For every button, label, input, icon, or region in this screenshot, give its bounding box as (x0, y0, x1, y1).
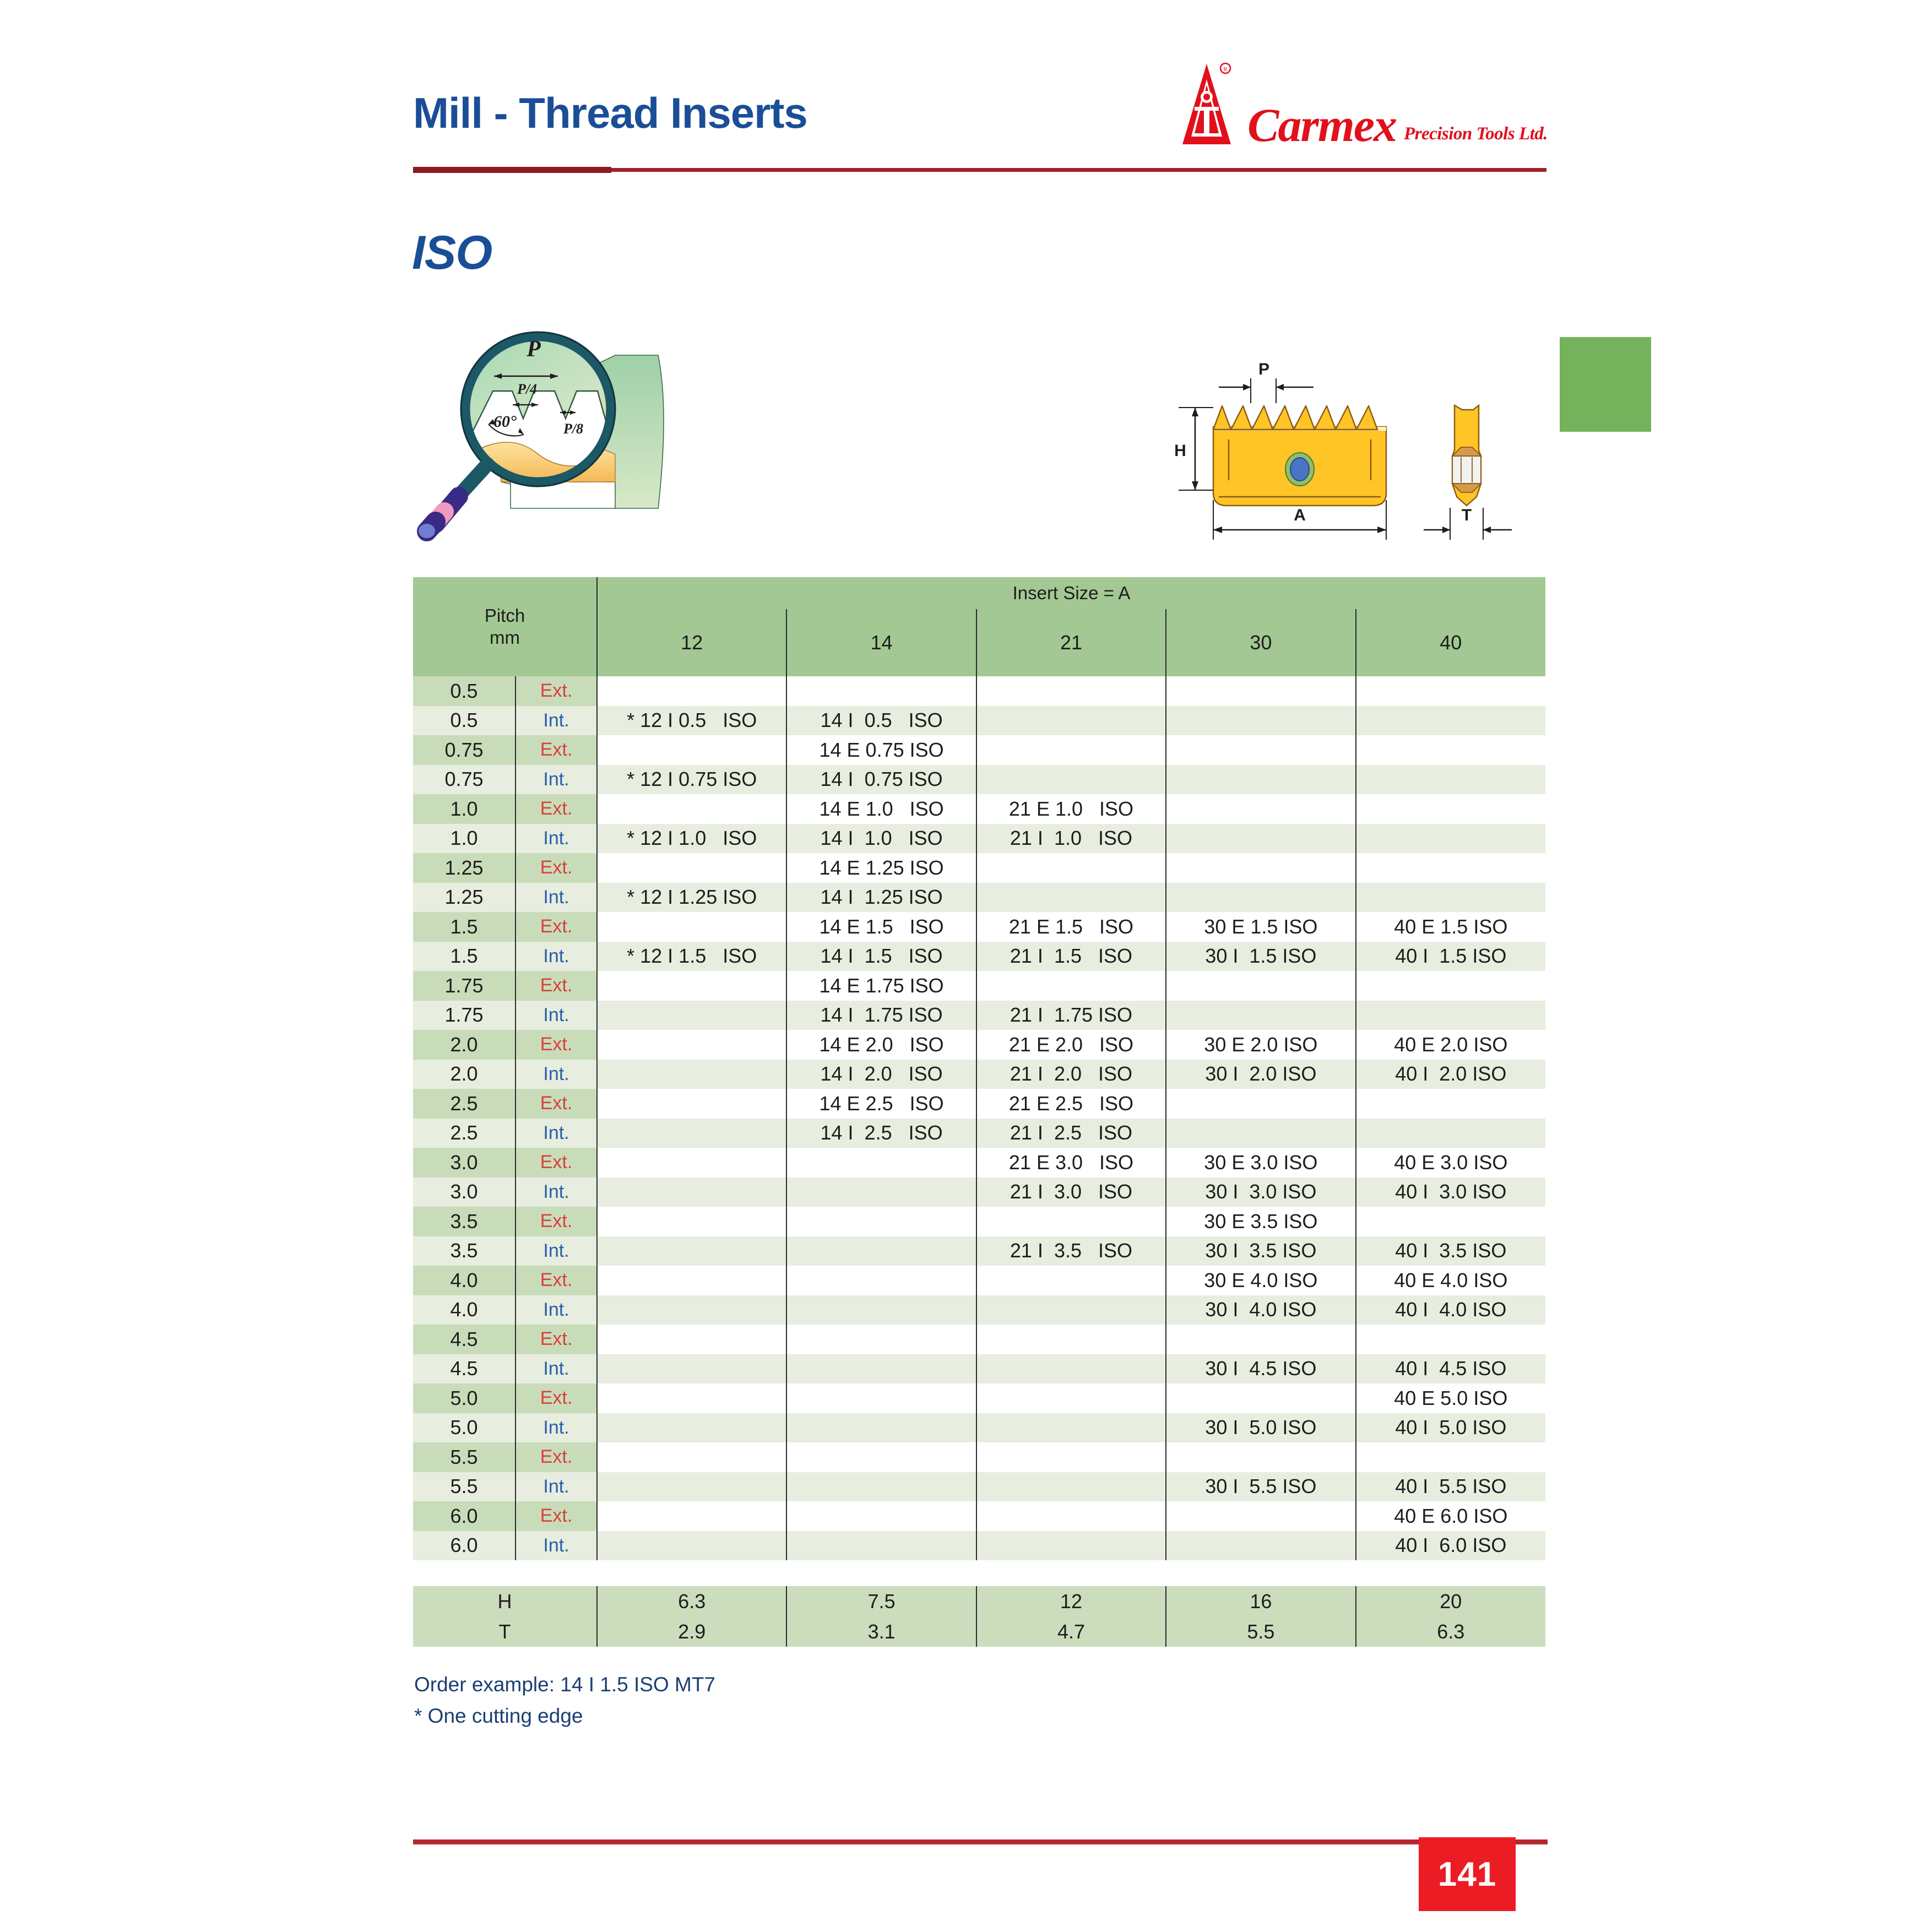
cell-pitch: 1.75 (413, 971, 515, 1001)
table-row: 0.5Int.* 12 I 0.5 ISO14 I 0.5 ISO (413, 706, 1545, 736)
cell-insert-code (976, 1413, 1166, 1443)
cell-insert-code: * 12 I 1.0 ISO (597, 824, 786, 854)
cell-insert-code: 30 E 3.0 ISO (1166, 1148, 1355, 1177)
cell-type-int: Int. (515, 765, 597, 795)
label-h: H (1174, 442, 1186, 460)
cell-insert-code: * 12 I 1.25 ISO (597, 883, 786, 913)
cell-insert-code (976, 735, 1166, 765)
cell-insert-code: 21 I 1.0 ISO (976, 824, 1166, 854)
label-angle: 60° (493, 413, 517, 431)
cell-pitch: 1.0 (413, 794, 515, 824)
cell-insert-code (786, 1383, 976, 1413)
cell-insert-code (1356, 1442, 1545, 1472)
cell-insert-code: 40 E 5.0 ISO (1356, 1383, 1545, 1413)
cell-pitch: 3.0 (413, 1148, 515, 1177)
cell-insert-code (786, 1531, 976, 1561)
cell-type-ext: Ext. (515, 1148, 597, 1177)
footnote-one-cutting-edge: * One cutting edge (414, 1700, 715, 1732)
cell-type-int: Int. (515, 1413, 597, 1443)
cell-insert-code (786, 1501, 976, 1531)
cell-insert-code: 30 I 4.0 ISO (1166, 1295, 1355, 1325)
cell-type-int: Int. (515, 1060, 597, 1089)
size-col-30: 30 (1166, 609, 1355, 676)
dimension-value: 4.7 (976, 1616, 1166, 1647)
cell-insert-code (1356, 676, 1545, 706)
cell-pitch: 1.25 (413, 883, 515, 913)
cell-type-ext: Ext. (515, 912, 597, 942)
cell-insert-code (597, 676, 786, 706)
cell-insert-code (1166, 765, 1355, 795)
dimension-label: H (413, 1586, 597, 1616)
cell-pitch: 6.0 (413, 1531, 515, 1561)
cell-pitch: 0.5 (413, 706, 515, 736)
cell-pitch: 2.5 (413, 1089, 515, 1119)
cell-insert-code: 40 I 6.0 ISO (1356, 1531, 1545, 1561)
cell-type-int: Int. (515, 1354, 597, 1384)
cell-insert-code (976, 1295, 1166, 1325)
cell-insert-code (1356, 883, 1545, 913)
cell-insert-code: 40 E 1.5 ISO (1356, 912, 1545, 942)
cell-pitch: 0.75 (413, 735, 515, 765)
table-row: 5.5Int.30 I 5.5 ISO40 I 5.5 ISO (413, 1472, 1545, 1502)
cell-insert-code: 14 I 0.75 ISO (786, 765, 976, 795)
cell-insert-code (1356, 824, 1545, 854)
cell-insert-code (976, 1442, 1166, 1472)
cell-type-int: Int. (515, 1001, 597, 1030)
table-row: 3.5Ext.30 E 3.5 ISO (413, 1207, 1545, 1236)
cell-insert-code (597, 1148, 786, 1177)
cell-insert-code (976, 853, 1166, 883)
cell-insert-code: 14 I 1.75 ISO (786, 1001, 976, 1030)
cell-insert-code (1166, 1089, 1355, 1119)
cell-insert-code: 21 I 2.5 ISO (976, 1119, 1166, 1148)
cell-insert-code (1356, 794, 1545, 824)
cell-type-ext: Ext. (515, 1383, 597, 1413)
cell-insert-code (786, 1207, 976, 1236)
cell-insert-code: 21 I 2.0 ISO (976, 1060, 1166, 1089)
dimension-value: 2.9 (597, 1616, 786, 1647)
cell-insert-code (597, 1501, 786, 1531)
cell-pitch: 5.5 (413, 1472, 515, 1502)
page-number: 141 (1419, 1837, 1516, 1911)
cell-insert-code (1166, 824, 1355, 854)
cell-insert-code: * 12 I 0.5 ISO (597, 706, 786, 736)
cell-insert-code (1356, 706, 1545, 736)
dimension-value: 6.3 (597, 1586, 786, 1616)
cell-insert-code: 40 I 3.0 ISO (1356, 1177, 1545, 1207)
cell-insert-code (1166, 706, 1355, 736)
company-logo: R Carmex Precision Tools Ltd. (1174, 61, 1548, 149)
table-row: 1.25Int.* 12 I 1.25 ISO14 I 1.25 ISO (413, 883, 1545, 913)
label-p4: P/4 (517, 381, 537, 397)
table-row: 3.0Int.21 I 3.0 ISO30 I 3.0 ISO40 I 3.0 … (413, 1177, 1545, 1207)
brand-name: Carmex (1247, 101, 1396, 149)
cell-pitch: 1.75 (413, 1001, 515, 1030)
cell-type-ext: Ext. (515, 676, 597, 706)
cell-insert-code (786, 1354, 976, 1384)
table-row: 2.0Ext.14 E 2.0 ISO21 E 2.0 ISO30 E 2.0 … (413, 1030, 1545, 1060)
cell-insert-code (976, 1383, 1166, 1413)
cell-pitch: 4.5 (413, 1325, 515, 1354)
cell-insert-code: 30 I 1.5 ISO (1166, 942, 1355, 972)
cell-insert-code (597, 1177, 786, 1207)
cell-insert-code (597, 1236, 786, 1266)
cell-insert-code: 40 I 3.5 ISO (1356, 1236, 1545, 1266)
dimension-value: 20 (1356, 1586, 1545, 1616)
label-p8: P/8 (563, 421, 583, 437)
cell-insert-code (597, 1413, 786, 1443)
cell-insert-code: 30 I 4.5 ISO (1166, 1354, 1355, 1384)
cell-insert-code: 40 E 6.0 ISO (1356, 1501, 1545, 1531)
section-title: ISO (412, 226, 492, 280)
dimensions-table: H6.37.5121620T2.93.14.75.56.3 (413, 1586, 1545, 1647)
cell-pitch: 0.75 (413, 765, 515, 795)
cell-insert-code (786, 676, 976, 706)
page-title: Mill - Thread Inserts (413, 88, 807, 138)
cell-insert-code (1356, 1001, 1545, 1030)
cell-insert-code: 14 E 1.75 ISO (786, 971, 976, 1001)
dimension-value: 16 (1166, 1586, 1355, 1616)
cell-insert-code (597, 1472, 786, 1502)
dimension-value: 6.3 (1356, 1616, 1545, 1647)
cell-type-int: Int. (515, 824, 597, 854)
cell-insert-code (976, 1325, 1166, 1354)
page-header: Mill - Thread Inserts R Carmex Precision (413, 83, 1548, 176)
cell-insert-code (976, 1207, 1166, 1236)
cell-insert-code: 40 E 4.0 ISO (1356, 1266, 1545, 1295)
cell-insert-code: 14 E 1.25 ISO (786, 853, 976, 883)
cell-pitch: 3.5 (413, 1207, 515, 1236)
cell-insert-code (1356, 1325, 1545, 1354)
cell-insert-code (597, 1119, 786, 1148)
table-row: 6.0Int.40 I 6.0 ISO (413, 1531, 1545, 1561)
cell-pitch: 1.5 (413, 942, 515, 972)
table-row: 3.0Ext.21 E 3.0 ISO30 E 3.0 ISO40 E 3.0 … (413, 1148, 1545, 1177)
section-color-tab (1560, 337, 1651, 432)
cell-insert-code (976, 1531, 1166, 1561)
cell-insert-code: 30 I 3.0 ISO (1166, 1177, 1355, 1207)
cell-insert-code: 21 E 1.0 ISO (976, 794, 1166, 824)
cell-insert-code (597, 1383, 786, 1413)
dimension-value: 12 (976, 1586, 1166, 1616)
cell-insert-code: 30 I 5.5 ISO (1166, 1472, 1355, 1502)
pitch-header-line1: Pitch (413, 605, 596, 627)
cell-type-int: Int. (515, 1236, 597, 1266)
cell-insert-code (786, 1325, 976, 1354)
cell-pitch: 6.0 (413, 1501, 515, 1531)
cell-type-int: Int. (515, 706, 597, 736)
label-p: P (1258, 360, 1269, 378)
order-example: Order example: 14 I 1.5 ISO MT7 (414, 1669, 715, 1700)
brand-subtitle: Precision Tools Ltd. (1404, 125, 1548, 149)
cell-insert-code (786, 1442, 976, 1472)
cell-insert-code (1166, 1001, 1355, 1030)
cell-insert-code (786, 1472, 976, 1502)
cell-insert-code (1356, 1119, 1545, 1148)
cell-insert-code (976, 971, 1166, 1001)
cell-insert-code: 21 I 1.5 ISO (976, 942, 1166, 972)
cell-insert-code: 30 E 2.0 ISO (1166, 1030, 1355, 1060)
cell-insert-code (976, 1266, 1166, 1295)
cell-pitch: 2.0 (413, 1030, 515, 1060)
cell-insert-code (786, 1295, 976, 1325)
cell-type-int: Int. (515, 1472, 597, 1502)
insert-size-table: Pitch mm Insert Size = A 12 14 21 30 40 … (413, 577, 1545, 1560)
cell-insert-code: 21 I 3.0 ISO (976, 1177, 1166, 1207)
cell-pitch: 4.0 (413, 1266, 515, 1295)
cell-insert-code (597, 735, 786, 765)
footer-divider (413, 1839, 1548, 1844)
cell-insert-code: 40 E 3.0 ISO (1356, 1148, 1545, 1177)
cell-insert-code: 14 I 1.5 ISO (786, 942, 976, 972)
cell-insert-code: 14 E 2.0 ISO (786, 1030, 976, 1060)
cell-insert-code (786, 1148, 976, 1177)
cell-pitch: 0.5 (413, 676, 515, 706)
cell-type-ext: Ext. (515, 1442, 597, 1472)
table-row: 2.5Int.14 I 2.5 ISO21 I 2.5 ISO (413, 1119, 1545, 1148)
pitch-header: Pitch mm (413, 577, 597, 676)
cell-pitch: 1.5 (413, 912, 515, 942)
table-row: 6.0Ext.40 E 6.0 ISO (413, 1501, 1545, 1531)
insert-size-header: Insert Size = A (597, 577, 1545, 609)
cell-insert-code: 21 I 1.75 ISO (976, 1001, 1166, 1030)
cell-insert-code: 14 E 2.5 ISO (786, 1089, 976, 1119)
cell-insert-code (1166, 1531, 1355, 1561)
cell-insert-code: 21 I 3.5 ISO (976, 1236, 1166, 1266)
table-row: 1.75Ext.14 E 1.75 ISO (413, 971, 1545, 1001)
cell-insert-code (1356, 971, 1545, 1001)
cell-insert-code: 14 I 1.25 ISO (786, 883, 976, 913)
cell-type-ext: Ext. (515, 853, 597, 883)
table-row: 3.5Int.21 I 3.5 ISO30 I 3.5 ISO40 I 3.5 … (413, 1236, 1545, 1266)
table-row: 1.5Int.* 12 I 1.5 ISO14 I 1.5 ISO21 I 1.… (413, 942, 1545, 972)
table-row: 4.0Ext.30 E 4.0 ISO40 E 4.0 ISO (413, 1266, 1545, 1295)
cell-insert-code (1166, 883, 1355, 913)
cell-insert-code: 30 I 3.5 ISO (1166, 1236, 1355, 1266)
cell-type-ext: Ext. (515, 1089, 597, 1119)
cell-type-ext: Ext. (515, 794, 597, 824)
dimension-value: 5.5 (1166, 1616, 1355, 1647)
dimension-value: 7.5 (786, 1586, 976, 1616)
cell-insert-code (1166, 676, 1355, 706)
header-divider-accent (413, 167, 611, 173)
catalog-page: Mill - Thread Inserts R Carmex Precision (0, 0, 1932, 1932)
cell-insert-code: 40 I 5.0 ISO (1356, 1413, 1545, 1443)
cell-insert-code: 30 I 2.0 ISO (1166, 1060, 1355, 1089)
cell-insert-code (1356, 765, 1545, 795)
cell-insert-code: 21 E 3.0 ISO (976, 1148, 1166, 1177)
cell-pitch: 1.0 (413, 824, 515, 854)
cell-insert-code (597, 1442, 786, 1472)
thread-profile-illustration: P P/4 P/8 60° (410, 317, 697, 559)
cell-insert-code (597, 1266, 786, 1295)
cell-insert-code (1166, 1325, 1355, 1354)
dimensions-row: T2.93.14.75.56.3 (413, 1616, 1545, 1647)
table-row: 4.5Ext. (413, 1325, 1545, 1354)
carmex-triangle-icon: R (1174, 61, 1240, 149)
cell-pitch: 3.5 (413, 1236, 515, 1266)
cell-type-int: Int. (515, 942, 597, 972)
size-col-12: 12 (597, 609, 786, 676)
cell-insert-code (786, 1413, 976, 1443)
cell-insert-code (597, 1207, 786, 1236)
notes-block: Order example: 14 I 1.5 ISO MT7 * One cu… (414, 1669, 715, 1732)
cell-type-int: Int. (515, 1295, 597, 1325)
label-a: A (1294, 506, 1306, 524)
cell-insert-code (976, 1354, 1166, 1384)
cell-insert-code: * 12 I 0.75 ISO (597, 765, 786, 795)
cell-insert-code: 30 E 4.0 ISO (1166, 1266, 1355, 1295)
table-row: 5.0Int.30 I 5.0 ISO40 I 5.0 ISO (413, 1413, 1545, 1443)
cell-insert-code (786, 1236, 976, 1266)
cell-insert-code: 14 I 2.5 ISO (786, 1119, 976, 1148)
dimension-value: 3.1 (786, 1616, 976, 1647)
cell-type-ext: Ext. (515, 1266, 597, 1295)
cell-insert-code (597, 1325, 786, 1354)
table-row: 2.0Int.14 I 2.0 ISO21 I 2.0 ISO30 I 2.0 … (413, 1060, 1545, 1089)
table-row: 0.5Ext. (413, 676, 1545, 706)
cell-pitch: 5.5 (413, 1442, 515, 1472)
cell-pitch: 1.25 (413, 853, 515, 883)
cell-type-int: Int. (515, 883, 597, 913)
cell-insert-code (1166, 1383, 1355, 1413)
cell-insert-code (1166, 853, 1355, 883)
cell-insert-code (786, 1266, 976, 1295)
cell-insert-code: 30 I 5.0 ISO (1166, 1413, 1355, 1443)
cell-insert-code: 40 I 1.5 ISO (1356, 942, 1545, 972)
table-row: 1.0Ext.14 E 1.0 ISO21 E 1.0 ISO (413, 794, 1545, 824)
size-col-40: 40 (1356, 609, 1545, 676)
cell-insert-code (597, 1089, 786, 1119)
cell-insert-code (1166, 971, 1355, 1001)
cell-pitch: 2.0 (413, 1060, 515, 1089)
cell-insert-code (1356, 1089, 1545, 1119)
cell-insert-code (597, 912, 786, 942)
cell-insert-code (786, 1177, 976, 1207)
cell-type-ext: Ext. (515, 971, 597, 1001)
cell-insert-code (976, 676, 1166, 706)
cell-insert-code (1356, 735, 1545, 765)
cell-insert-code (976, 883, 1166, 913)
table-head: Pitch mm Insert Size = A 12 14 21 30 40 (413, 577, 1545, 676)
cell-insert-code (597, 971, 786, 1001)
dimensions-row: H6.37.5121620 (413, 1586, 1545, 1616)
cell-insert-code (597, 1295, 786, 1325)
cell-insert-code (1166, 1119, 1355, 1148)
cell-insert-code: 40 I 5.5 ISO (1356, 1472, 1545, 1502)
table-row: 4.5Int.30 I 4.5 ISO40 I 4.5 ISO (413, 1354, 1545, 1384)
cell-insert-code: 14 E 1.0 ISO (786, 794, 976, 824)
cell-insert-code (597, 1060, 786, 1089)
cell-type-ext: Ext. (515, 1207, 597, 1236)
cell-insert-code: 40 I 4.5 ISO (1356, 1354, 1545, 1384)
cell-type-int: Int. (515, 1177, 597, 1207)
table-row: 4.0Int.30 I 4.0 ISO40 I 4.0 ISO (413, 1295, 1545, 1325)
cell-insert-code: 40 I 4.0 ISO (1356, 1295, 1545, 1325)
cell-pitch: 5.0 (413, 1413, 515, 1443)
table-row: 1.25Ext.14 E 1.25 ISO (413, 853, 1545, 883)
cell-insert-code (976, 1472, 1166, 1502)
table-row: 2.5Ext.14 E 2.5 ISO21 E 2.5 ISO (413, 1089, 1545, 1119)
table-row: 0.75Int.* 12 I 0.75 ISO14 I 0.75 ISO (413, 765, 1545, 795)
table-row: 1.5Ext.14 E 1.5 ISO21 E 1.5 ISO30 E 1.5 … (413, 912, 1545, 942)
size-col-14: 14 (786, 609, 976, 676)
cell-insert-code: 14 I 0.5 ISO (786, 706, 976, 736)
cell-insert-code (597, 853, 786, 883)
cell-insert-code: 14 I 1.0 ISO (786, 824, 976, 854)
cell-insert-code: 21 E 1.5 ISO (976, 912, 1166, 942)
cell-insert-code: 14 E 1.5 ISO (786, 912, 976, 942)
dimensions-table-body: H6.37.5121620T2.93.14.75.56.3 (413, 1586, 1545, 1647)
label-t: T (1462, 506, 1472, 524)
cell-insert-code: 40 E 2.0 ISO (1356, 1030, 1545, 1060)
cell-insert-code: 21 E 2.5 ISO (976, 1089, 1166, 1119)
table-row: 5.0Ext.40 E 5.0 ISO (413, 1383, 1545, 1413)
pitch-header-line2: mm (413, 627, 596, 649)
cell-insert-code (1166, 1501, 1355, 1531)
cell-insert-code (976, 765, 1166, 795)
cell-insert-code (976, 706, 1166, 736)
cell-type-ext: Ext. (515, 735, 597, 765)
cell-insert-code (597, 1030, 786, 1060)
insert-dimension-diagram: P H A (1148, 352, 1545, 562)
cell-pitch: 4.0 (413, 1295, 515, 1325)
cell-pitch: 5.0 (413, 1383, 515, 1413)
cell-insert-code (597, 1531, 786, 1561)
cell-insert-code (597, 1001, 786, 1030)
cell-insert-code (976, 1501, 1166, 1531)
cell-insert-code: 30 E 1.5 ISO (1166, 912, 1355, 942)
cell-insert-code: 40 I 2.0 ISO (1356, 1060, 1545, 1089)
cell-insert-code (1166, 1442, 1355, 1472)
cell-insert-code: 30 E 3.5 ISO (1166, 1207, 1355, 1236)
cell-insert-code (1166, 794, 1355, 824)
svg-text:R: R (1223, 66, 1228, 73)
table-row: 1.75Int.14 I 1.75 ISO21 I 1.75 ISO (413, 1001, 1545, 1030)
cell-insert-code (1356, 853, 1545, 883)
cell-insert-code (1356, 1207, 1545, 1236)
table-row: 1.0Int.* 12 I 1.0 ISO14 I 1.0 ISO21 I 1.… (413, 824, 1545, 854)
table-row: 5.5Ext. (413, 1442, 1545, 1472)
cell-pitch: 4.5 (413, 1354, 515, 1384)
cell-type-ext: Ext. (515, 1501, 597, 1531)
cell-insert-code: * 12 I 1.5 ISO (597, 942, 786, 972)
cell-type-ext: Ext. (515, 1325, 597, 1354)
cell-insert-code (597, 1354, 786, 1384)
cell-pitch: 2.5 (413, 1119, 515, 1148)
cell-pitch: 3.0 (413, 1177, 515, 1207)
cell-insert-code: 14 I 2.0 ISO (786, 1060, 976, 1089)
cell-insert-code (1166, 735, 1355, 765)
cell-type-ext: Ext. (515, 1030, 597, 1060)
cell-type-int: Int. (515, 1531, 597, 1561)
cell-type-int: Int. (515, 1119, 597, 1148)
table-row: 0.75Ext.14 E 0.75 ISO (413, 735, 1545, 765)
cell-insert-code: 21 E 2.0 ISO (976, 1030, 1166, 1060)
table-body: 0.5Ext.0.5Int.* 12 I 0.5 ISO14 I 0.5 ISO… (413, 676, 1545, 1560)
dimension-label: T (413, 1616, 597, 1647)
cell-insert-code (597, 794, 786, 824)
size-col-21: 21 (976, 609, 1166, 676)
cell-insert-code: 14 E 0.75 ISO (786, 735, 976, 765)
